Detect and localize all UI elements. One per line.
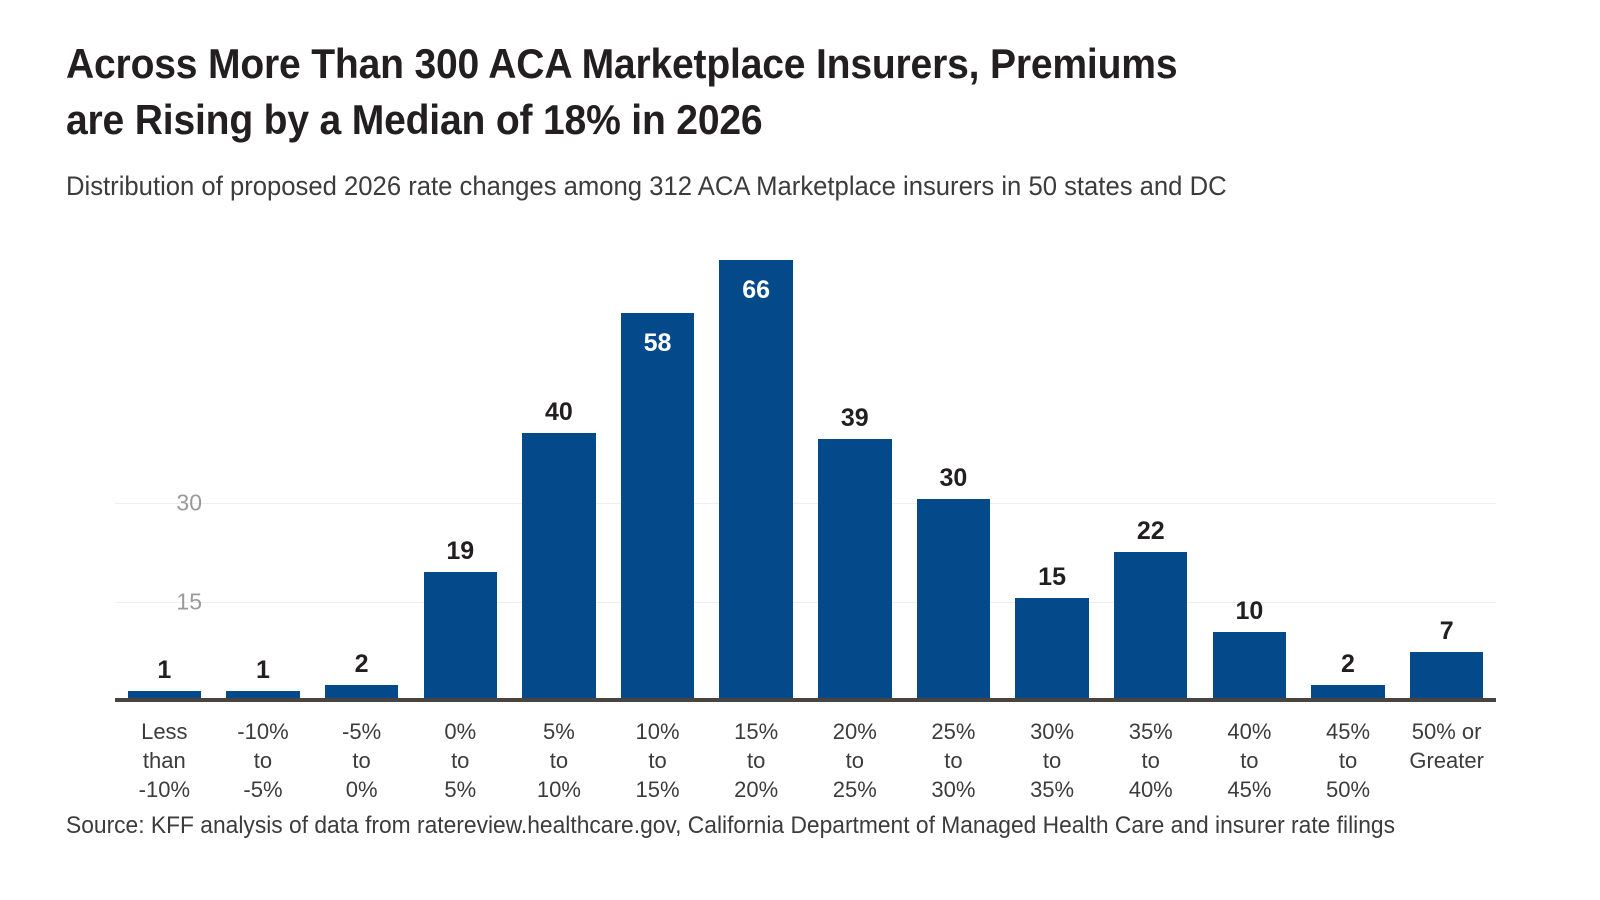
x-axis-line	[115, 698, 1496, 702]
x-axis-tick-label: 0% to 5%	[411, 717, 510, 804]
bar[interactable]: 15	[1015, 598, 1088, 698]
bar-slot[interactable]: 10	[1200, 260, 1299, 698]
x-axis-tick-label: -10% to -5%	[214, 717, 313, 804]
chart-page: Across More Than 300 ACA Marketplace Ins…	[0, 0, 1600, 900]
chart-header: Across More Than 300 ACA Marketplace Ins…	[66, 36, 1536, 202]
bar-value-label: 7	[1410, 617, 1483, 646]
x-axis-tick-label: 35% to 40%	[1101, 717, 1200, 804]
bar-value-label: 2	[1311, 650, 1384, 679]
x-axis-tick-label: 10% to 15%	[608, 717, 707, 804]
x-axis-tick-label: 30% to 35%	[1003, 717, 1102, 804]
y-axis-tick-label: 15	[142, 589, 202, 616]
bar-value-label: 66	[719, 276, 792, 305]
x-axis-tick-label: 5% to 10%	[510, 717, 609, 804]
bar-value-label: 39	[818, 404, 891, 433]
x-axis-tick-label: 15% to 20%	[707, 717, 806, 804]
bar[interactable]: 39	[818, 439, 891, 698]
bar-slot[interactable]: 15	[1003, 260, 1102, 698]
x-axis-tick-label: 25% to 30%	[904, 717, 1003, 804]
y-axis-tick-label: 30	[142, 489, 202, 516]
bar[interactable]: 22	[1114, 552, 1187, 698]
bar-slot[interactable]: 1	[115, 260, 214, 698]
bar[interactable]: 58	[621, 313, 694, 698]
bar-slot[interactable]: 1	[214, 260, 313, 698]
x-axis-tick-label: Less than -10%	[115, 717, 214, 804]
bar-slot[interactable]: 66	[707, 260, 806, 698]
bar-slot[interactable]: 40	[510, 260, 609, 698]
bar[interactable]: 40	[522, 433, 595, 698]
bar[interactable]: 19	[424, 572, 497, 698]
bar-value-label: 2	[325, 650, 398, 679]
bar[interactable]: 66	[719, 260, 792, 698]
bar-value-label: 1	[226, 656, 299, 685]
x-axis-tick-label: 45% to 50%	[1299, 717, 1398, 804]
bar-value-label: 1	[128, 656, 201, 685]
x-axis-tick-label: 40% to 45%	[1200, 717, 1299, 804]
x-axis-label-group: Less than -10%-10% to -5%-5% to 0%0% to …	[115, 717, 1496, 804]
bar-slot[interactable]: 58	[608, 260, 707, 698]
bar[interactable]: 10	[1213, 632, 1286, 698]
x-axis-tick-label: 50% or Greater	[1397, 717, 1496, 804]
bar-group: 11219405866393015221027	[115, 260, 1496, 698]
bar-slot[interactable]: 2	[1299, 260, 1398, 698]
bar-slot[interactable]: 30	[904, 260, 1003, 698]
bar[interactable]: 7	[1410, 652, 1483, 698]
bar-slot[interactable]: 7	[1397, 260, 1496, 698]
bar-value-label: 22	[1114, 517, 1187, 546]
bar[interactable]: 1	[128, 691, 201, 698]
bar-value-label: 10	[1213, 597, 1286, 626]
chart-subtitle: Distribution of proposed 2026 rate chang…	[66, 170, 1463, 202]
plot-area: 11219405866393015221027	[115, 260, 1496, 702]
bar[interactable]: 2	[1311, 685, 1384, 698]
bar-value-label: 30	[917, 464, 990, 493]
x-axis-tick-label: 20% to 25%	[805, 717, 904, 804]
bar-value-label: 40	[522, 398, 595, 427]
bar-slot[interactable]: 22	[1101, 260, 1200, 698]
bar-value-label: 58	[621, 329, 694, 358]
bar-value-label: 15	[1015, 563, 1088, 592]
page-title: Across More Than 300 ACA Marketplace Ins…	[66, 36, 1433, 148]
source-note: Source: KFF analysis of data from ratere…	[66, 812, 1472, 840]
bar[interactable]: 2	[325, 685, 398, 698]
bar-slot[interactable]: 2	[312, 260, 411, 698]
bar-value-label: 19	[424, 537, 497, 566]
x-axis-tick-label: -5% to 0%	[312, 717, 411, 804]
bar-slot[interactable]: 19	[411, 260, 510, 698]
chart-plot-wrapper: 11219405866393015221027 1530 Less than -…	[0, 245, 1600, 805]
bar-slot[interactable]: 39	[805, 260, 904, 698]
bar[interactable]: 30	[917, 499, 990, 698]
bar[interactable]: 1	[226, 691, 299, 698]
